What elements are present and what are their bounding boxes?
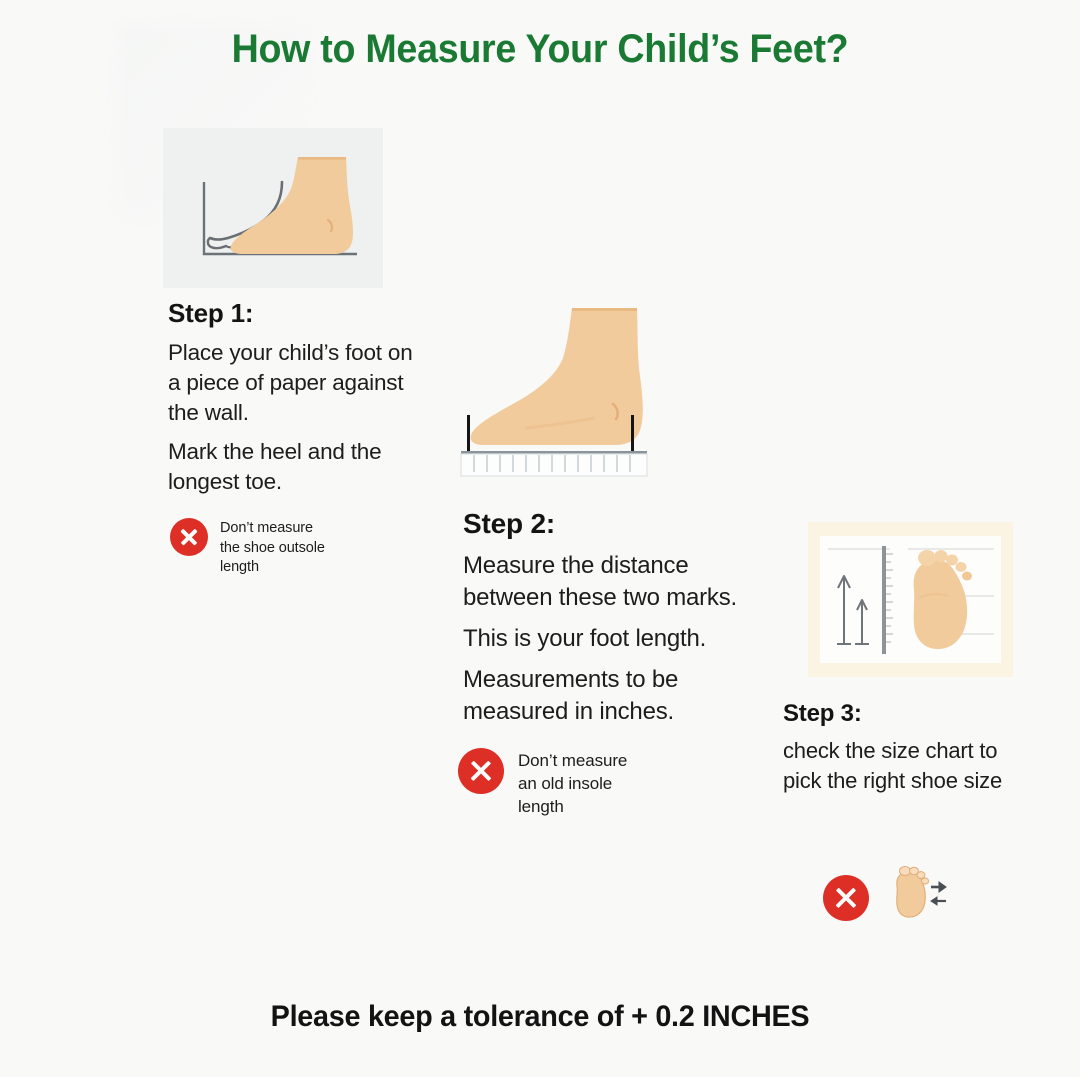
red-x-circle-icon	[458, 748, 504, 794]
step2-line-2: This is your foot length.	[463, 623, 783, 655]
foot-side-view-against-wall-icon	[163, 128, 383, 288]
step1-warning-line-1: Don’t measure	[220, 520, 313, 536]
step3-warning	[823, 866, 949, 929]
step1-warning: Don’t measure the shoe outsole length	[170, 518, 380, 578]
step1-illustration	[163, 128, 383, 288]
step1-warning-text: Don’t measure the shoe outsole length	[220, 518, 325, 578]
ruler	[461, 451, 647, 476]
tolerance-note: Please keep a tolerance of + 0.2 INCHES	[22, 1000, 1059, 1034]
step2-illustration	[455, 300, 690, 485]
measure-arrow-long	[837, 576, 851, 644]
step1-text-block: Step 1: Place your child’s foot on a pie…	[168, 298, 418, 497]
step3-body: check the size chart to pick the right s…	[783, 736, 1023, 796]
page-title: How to Measure Your Child’s Feet?	[32, 27, 1047, 72]
measure-arrow-short	[855, 600, 869, 644]
foot-side-view-with-ruler-icon	[455, 300, 690, 485]
step1-warning-line-3: length	[220, 559, 259, 575]
step2-text-block: Step 2: Measure the distance between the…	[463, 508, 783, 728]
step2-line-3: Measurements to be measured in inches.	[463, 664, 783, 728]
red-x-circle-icon	[823, 875, 869, 921]
step1-warning-line-2: the shoe outsole	[220, 540, 325, 556]
step2-warning-text: Don’t measure an old insole length	[518, 748, 627, 818]
step1-body: Place your child’s foot on a piece of pa…	[168, 338, 418, 497]
foot-sole-on-size-chart-icon	[820, 536, 1001, 663]
step2-body: Measure the distance between these two m…	[463, 550, 783, 728]
step2-warning: Don’t measure an old insole length	[458, 748, 678, 818]
step2-warning-line-3: length	[518, 797, 564, 816]
step1-heading: Step 1:	[168, 298, 418, 329]
foot-sole-with-arrows-icon	[887, 866, 949, 929]
step3-text-block: Step 3: check the size chart to pick the…	[783, 700, 1023, 796]
step3-illustration-frame	[808, 522, 1013, 677]
step2-heading: Step 2:	[463, 508, 783, 540]
step3-illustration	[820, 536, 1001, 663]
step3-heading: Step 3:	[783, 700, 1023, 728]
step1-line-1: Place your child’s foot on a piece of pa…	[168, 338, 418, 428]
infographic-page: How to Measure Your Child’s Feet? Step 1…	[0, 0, 1080, 1077]
step2-warning-line-1: Don’t measure	[518, 751, 627, 770]
step3-line-1: check the size chart to pick the right s…	[783, 736, 1023, 796]
step2-warning-line-2: an old insole	[518, 774, 612, 793]
step1-line-2: Mark the heel and the longest toe.	[168, 437, 418, 497]
red-x-circle-icon	[170, 518, 208, 556]
step2-line-1: Measure the distance between these two m…	[463, 550, 783, 614]
